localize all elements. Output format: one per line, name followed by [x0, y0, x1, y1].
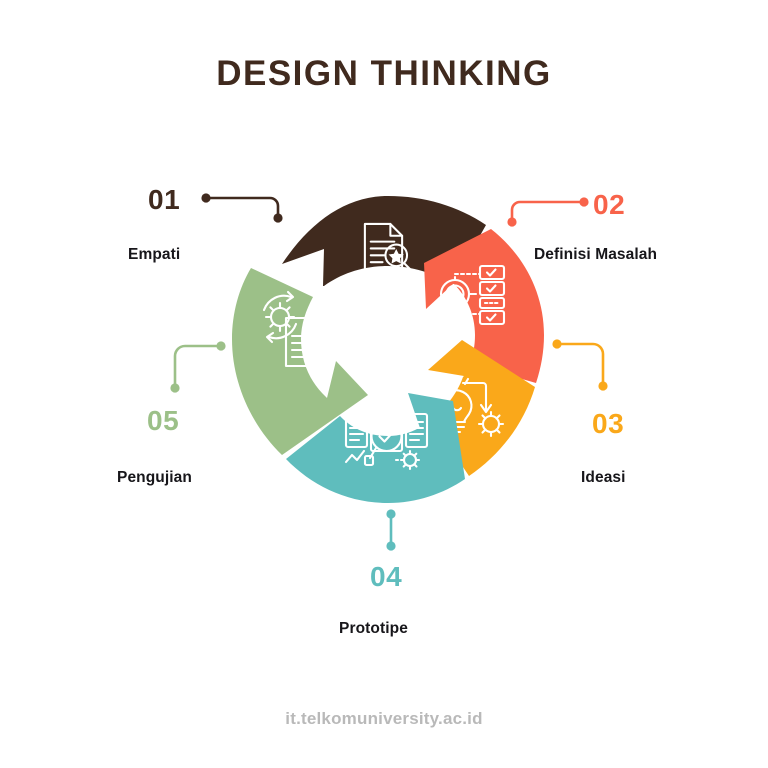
step-label-01: Empati [128, 246, 180, 264]
step-number-01: 01 [148, 184, 180, 216]
step-number-03: 03 [592, 408, 624, 440]
page-title: DESIGN THINKING [0, 54, 768, 94]
connector-line-04 [383, 508, 399, 552]
step-label-04: Prototipe [339, 620, 408, 638]
design-thinking-wheel: .ico { fill:none; stroke:#ffffff; stroke… [228, 192, 548, 517]
infographic-canvas: DESIGN THINKING .ico { fill:none; stroke… [0, 0, 768, 768]
step-number-05: 05 [147, 405, 179, 437]
step-number-02: 02 [593, 189, 625, 221]
step-label-03: Ideasi [581, 469, 626, 487]
connector-line-05 [163, 340, 227, 398]
connector-line-01 [200, 192, 284, 228]
connector-line-02 [506, 196, 590, 232]
step-label-02: Definisi Masalah [534, 246, 657, 264]
footer-url: it.telkomuniversity.ac.id [0, 709, 768, 729]
connector-line-03 [551, 338, 615, 396]
step-number-04: 04 [370, 561, 402, 593]
step-label-05: Pengujian [117, 469, 192, 487]
